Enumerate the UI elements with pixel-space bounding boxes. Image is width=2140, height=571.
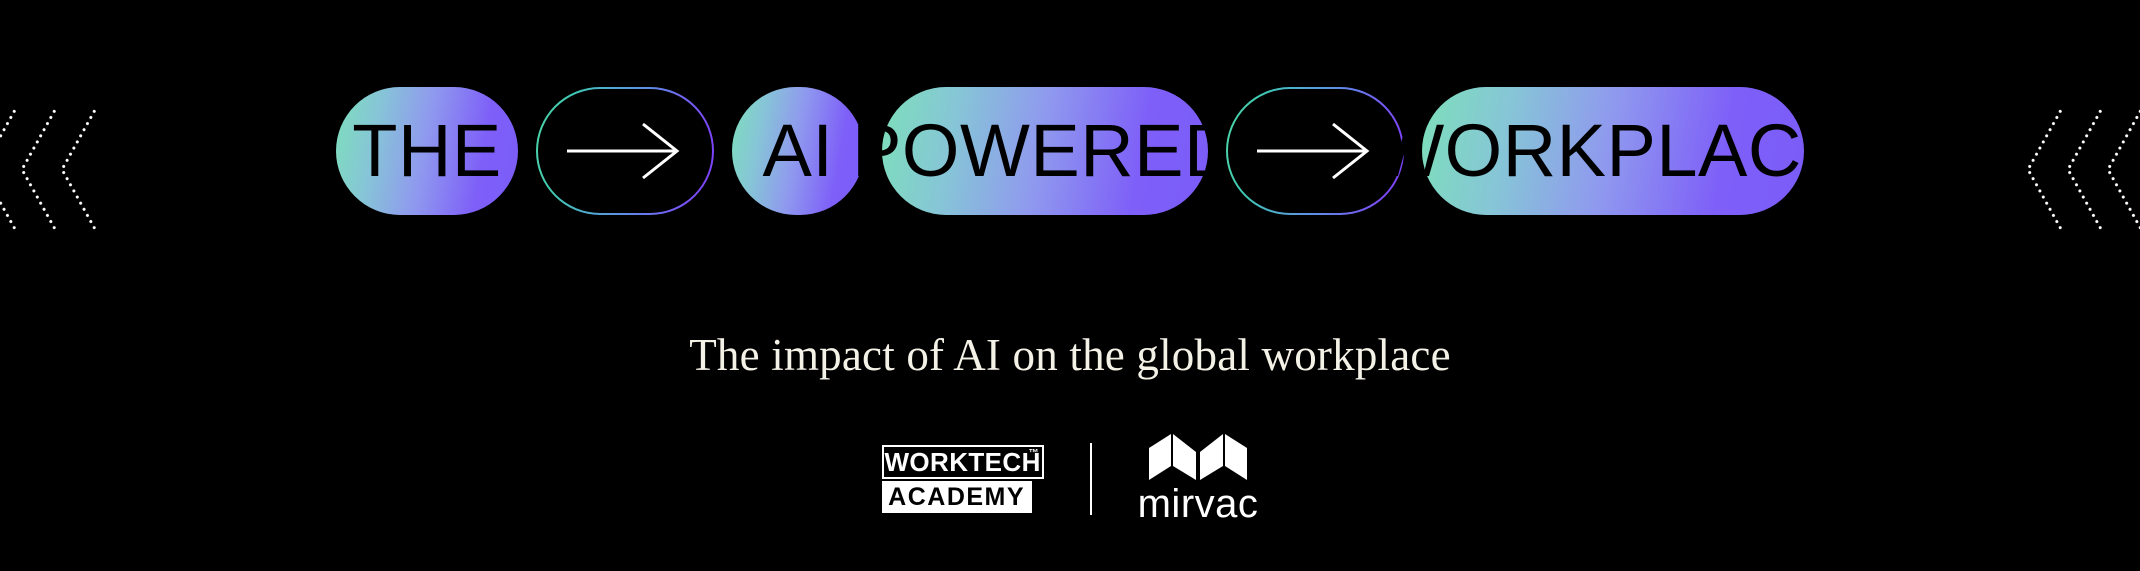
headline-word-workplace: WORKPLACE xyxy=(1374,114,1851,188)
banner-stage: THE AI POWERED WORK xyxy=(0,0,2140,571)
worktech-wordmark: WORKTECH xyxy=(884,449,1040,475)
mirvac-logo: mirvac xyxy=(1138,434,1259,524)
subtitle: The impact of AI on the global workplace xyxy=(0,329,2140,381)
headline-pill-powered: POWERED xyxy=(882,87,1208,215)
headline-arrow-pill-1 xyxy=(536,87,714,215)
headline-pill-workplace: WORKPLACE xyxy=(1422,87,1804,215)
arrow-right-icon xyxy=(1255,120,1375,182)
worktech-academy-logo: WORKTECH ™ ACADEMY xyxy=(882,445,1044,513)
headline-word-powered: POWERED xyxy=(852,114,1238,188)
worktech-wordmark-box: WORKTECH ™ xyxy=(882,445,1044,479)
trademark-icon: ™ xyxy=(1029,449,1039,459)
logo-strip: WORKTECH ™ ACADEMY mirvac xyxy=(0,436,2140,522)
mirvac-wordmark: mirvac xyxy=(1138,484,1259,524)
logo-divider xyxy=(1090,443,1092,515)
headline-pill-the: THE xyxy=(336,87,518,215)
headline-word-ai: AI xyxy=(763,114,834,188)
academy-wordmark-box: ACADEMY xyxy=(882,481,1032,513)
arrow-right-icon xyxy=(565,120,685,182)
academy-wordmark: ACADEMY xyxy=(888,485,1025,510)
headline-row: THE AI POWERED WORK xyxy=(0,86,2140,216)
mirvac-m-mark-icon xyxy=(1149,434,1247,480)
headline-pill-ai: AI xyxy=(732,87,864,215)
headline-word-the: THE xyxy=(352,114,502,188)
